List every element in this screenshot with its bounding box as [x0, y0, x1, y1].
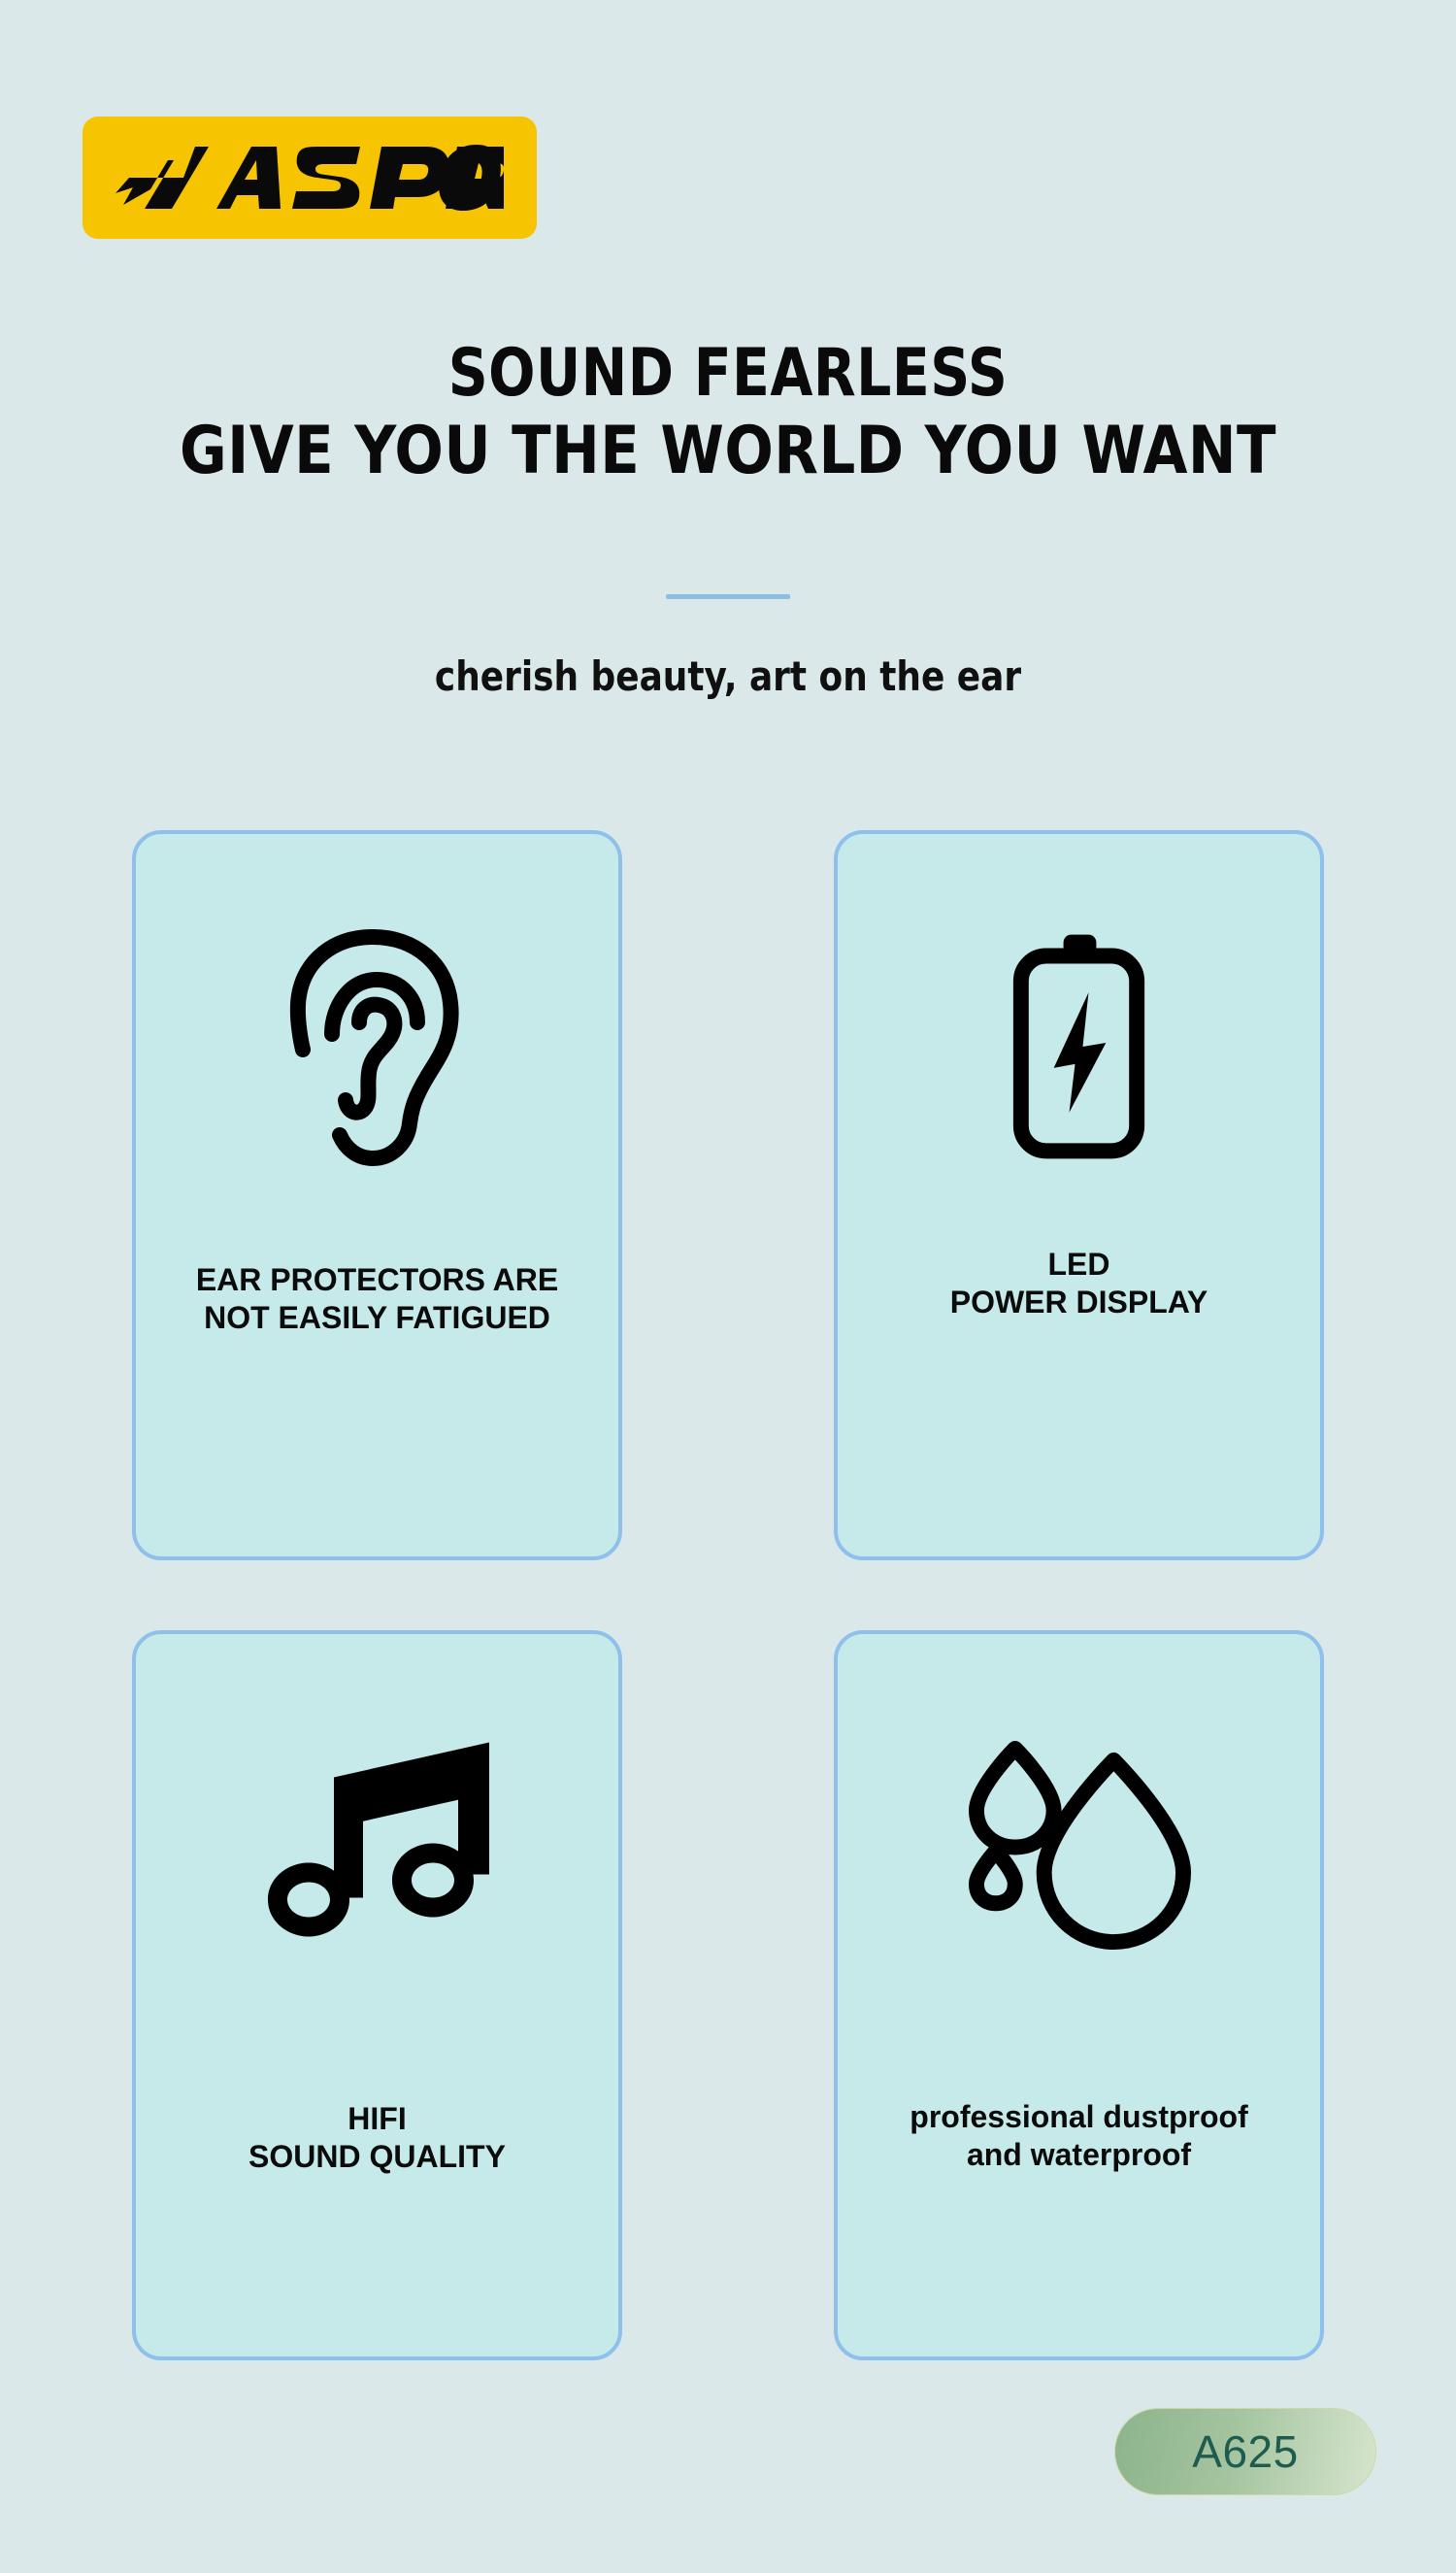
model-number-badge: A625 [1114, 2408, 1376, 2495]
feature-label-line-2: SOUND QUALITY [146, 2138, 609, 2176]
feature-card-ear-protectors: EAR PROTECTORS ARE NOT EASILY FATIGUED [132, 830, 622, 1560]
aspor-logo-icon [116, 139, 504, 217]
feature-label-line-1: HIFI [146, 2100, 609, 2138]
feature-label-line-1: LED [847, 1246, 1310, 1284]
feature-label-line-1: professional dustproof [847, 2098, 1310, 2136]
headline-line-2: GIVE YOU THE WORLD YOU WANT [22, 413, 1435, 490]
title-divider [666, 594, 790, 599]
brand-logo-badge [83, 117, 537, 239]
feature-card-hifi-sound-quality: HIFI SOUND QUALITY [132, 1630, 622, 2360]
feature-card-dustproof-waterproof: professional dustproof and waterproof [834, 1630, 1324, 2360]
feature-card-grid: EAR PROTECTORS ARE NOT EASILY FATIGUED L… [132, 830, 1324, 2360]
feature-card-label: professional dustproof and waterproof [838, 2098, 1320, 2174]
page-subtitle: cherish beauty, art on the ear [37, 652, 1420, 700]
water-drops-icon [838, 1634, 1320, 2052]
feature-card-label: EAR PROTECTORS ARE NOT EASILY FATIGUED [136, 1261, 618, 1337]
feature-label-line-1: EAR PROTECTORS ARE [146, 1261, 609, 1299]
feature-card-label: HIFI SOUND QUALITY [136, 2100, 618, 2176]
feature-label-line-2: NOT EASILY FATIGUED [146, 1299, 609, 1337]
headline-line-1: SOUND FEARLESS [51, 335, 1406, 413]
feature-label-line-2: POWER DISPLAY [847, 1284, 1310, 1321]
music-note-icon [136, 1634, 618, 2052]
battery-charging-icon [838, 834, 1320, 1252]
feature-label-line-2: and waterproof [847, 2136, 1310, 2174]
feature-card-led-power-display: LED POWER DISPLAY [834, 830, 1324, 1560]
ear-icon [136, 834, 618, 1261]
page-title: SOUND FEARLESS GIVE YOU THE WORLD YOU WA… [0, 335, 1456, 490]
model-number-text: A625 [1192, 2425, 1298, 2478]
feature-card-label: LED POWER DISPLAY [838, 1246, 1320, 1321]
